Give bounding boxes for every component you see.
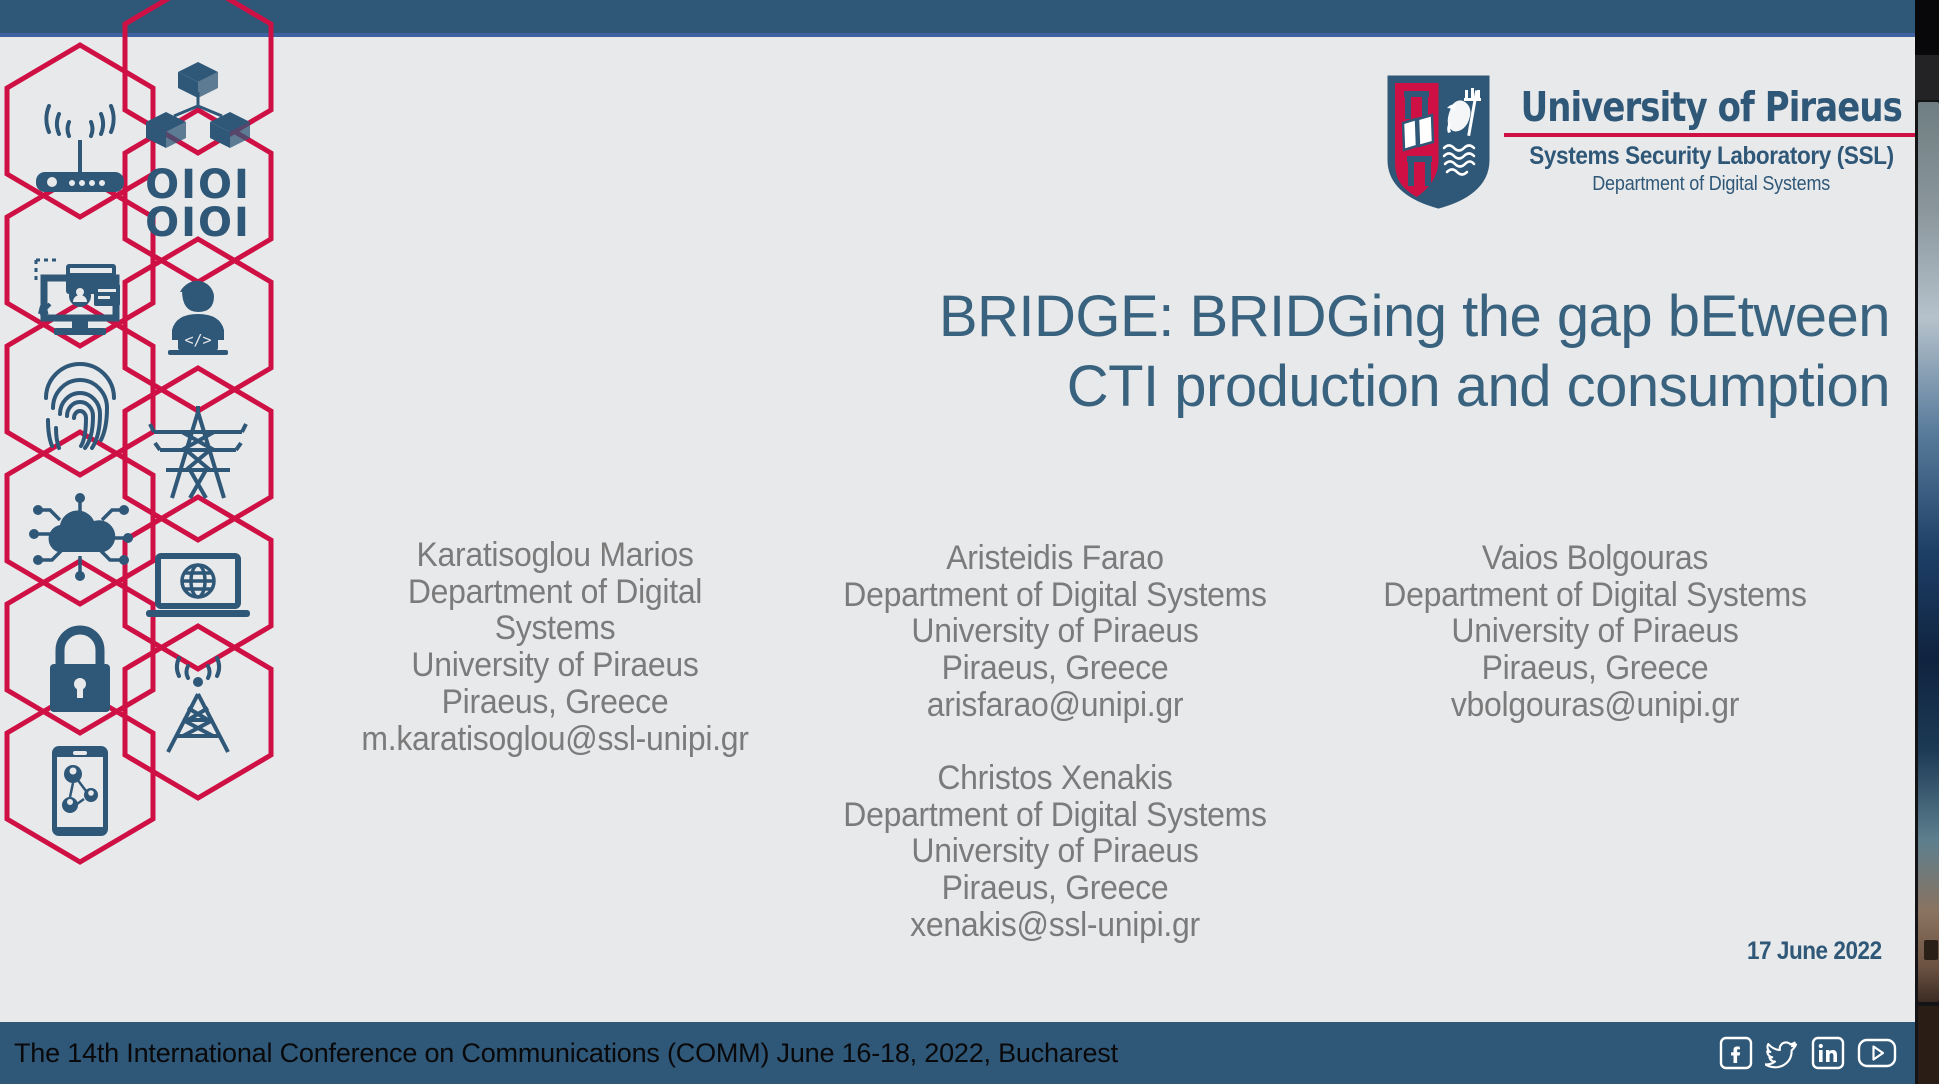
youtube-icon[interactable] bbox=[1857, 1036, 1897, 1070]
author-university: University of Piraeus bbox=[344, 647, 767, 684]
university-logo: University of Piraeus Systems Security L… bbox=[1387, 74, 1915, 209]
author-university: University of Piraeus bbox=[834, 613, 1276, 650]
author-name: Christos Xenakis bbox=[834, 760, 1276, 797]
linkedin-icon[interactable] bbox=[1811, 1036, 1845, 1070]
logo-department-name: Department of Digital Systems bbox=[1592, 172, 1830, 196]
twitter-icon[interactable] bbox=[1765, 1036, 1799, 1070]
smartphone-social-icon bbox=[52, 746, 108, 836]
author-city: Piraeus, Greece bbox=[1374, 650, 1816, 687]
author-city: Piraeus, Greece bbox=[834, 870, 1276, 907]
hexagon-icon-honeycomb: OIOI OIOI bbox=[0, 28, 300, 828]
author-department: Department of Digital Systems bbox=[834, 797, 1276, 834]
facebook-icon[interactable] bbox=[1719, 1036, 1753, 1070]
author-city: Piraeus, Greece bbox=[344, 684, 767, 721]
title-line-1: BRIDGE: BRIDGing the gap bEtween bbox=[740, 288, 1890, 346]
author-department: Department of Digital Systems bbox=[834, 577, 1276, 614]
author-university: University of Piraeus bbox=[1374, 613, 1816, 650]
author-department: Department of Digital Systems bbox=[1374, 577, 1816, 614]
svg-text:OIOI: OIOI bbox=[145, 200, 251, 246]
fingerprint-icon bbox=[46, 364, 114, 448]
author-city: Piraeus, Greece bbox=[834, 650, 1276, 687]
university-of-piraeus-shield bbox=[1387, 74, 1490, 209]
author-name: Aristeidis Farao bbox=[834, 540, 1276, 577]
author-email: m.karatisoglou@ssl-unipi.gr bbox=[344, 721, 767, 758]
author-name: Vaios Bolgouras bbox=[1374, 540, 1816, 577]
binary-code-icon: OIOI OIOI bbox=[145, 162, 251, 246]
blockchain-nodes-icon bbox=[146, 62, 250, 148]
author-name: Karatisoglou Marios bbox=[344, 537, 767, 574]
developer-coding-icon: </> bbox=[168, 281, 228, 355]
participant-badge bbox=[1924, 940, 1938, 960]
author-department: Department of Digital Systems bbox=[344, 574, 767, 647]
laptop-globe-icon bbox=[146, 556, 250, 617]
logo-university-name: University of Piraeus bbox=[1521, 87, 1902, 128]
author-email: xenakis@ssl-unipi.gr bbox=[834, 907, 1276, 944]
author-university: University of Piraeus bbox=[834, 833, 1276, 870]
chrome-top-pad bbox=[1915, 0, 1939, 55]
title-line-2: CTI production and consumption bbox=[740, 358, 1890, 416]
author-block-4: Christos Xenakis Department of Digital S… bbox=[834, 760, 1276, 944]
padlock-icon bbox=[50, 630, 110, 712]
slide-title: BRIDGE: BRIDGing the gap bEtween CTI pro… bbox=[740, 288, 1890, 428]
radio-tower-icon bbox=[168, 658, 228, 752]
presentation-date: 17 June 2022 bbox=[1747, 937, 1882, 966]
wifi-router-icon bbox=[36, 106, 124, 192]
slide-footer-bar: The 14th International Conference on Com… bbox=[0, 1022, 1915, 1084]
participant-video-tile-bottom bbox=[1918, 1006, 1939, 1084]
app-chrome-right-strip bbox=[1915, 0, 1939, 1084]
author-email: vbolgouras@unipi.gr bbox=[1374, 687, 1816, 724]
author-block-3: Vaios Bolgouras Department of Digital Sy… bbox=[1374, 540, 1816, 724]
logo-divider bbox=[1504, 133, 1915, 137]
social-links bbox=[1719, 1036, 1897, 1070]
author-block-1: Karatisoglou Marios Department of Digita… bbox=[344, 537, 767, 757]
chrome-toolbar-gap bbox=[1915, 55, 1939, 100]
presentation-slide: OIOI OIOI bbox=[0, 0, 1915, 1084]
author-email: arisfarao@unipi.gr bbox=[834, 687, 1276, 724]
computer-screen: OIOI OIOI bbox=[0, 0, 1939, 1084]
cloud-network-icon bbox=[29, 493, 133, 581]
participant-video-tile[interactable] bbox=[1918, 102, 1939, 1002]
power-pylon-icon bbox=[150, 406, 246, 498]
logo-lab-name: Systems Security Laboratory (SSL) bbox=[1529, 143, 1894, 169]
author-block-2: Aristeidis Farao Department of Digital S… bbox=[834, 540, 1276, 724]
svg-text:</>: </> bbox=[184, 331, 211, 349]
conference-info: The 14th International Conference on Com… bbox=[14, 1038, 1118, 1069]
